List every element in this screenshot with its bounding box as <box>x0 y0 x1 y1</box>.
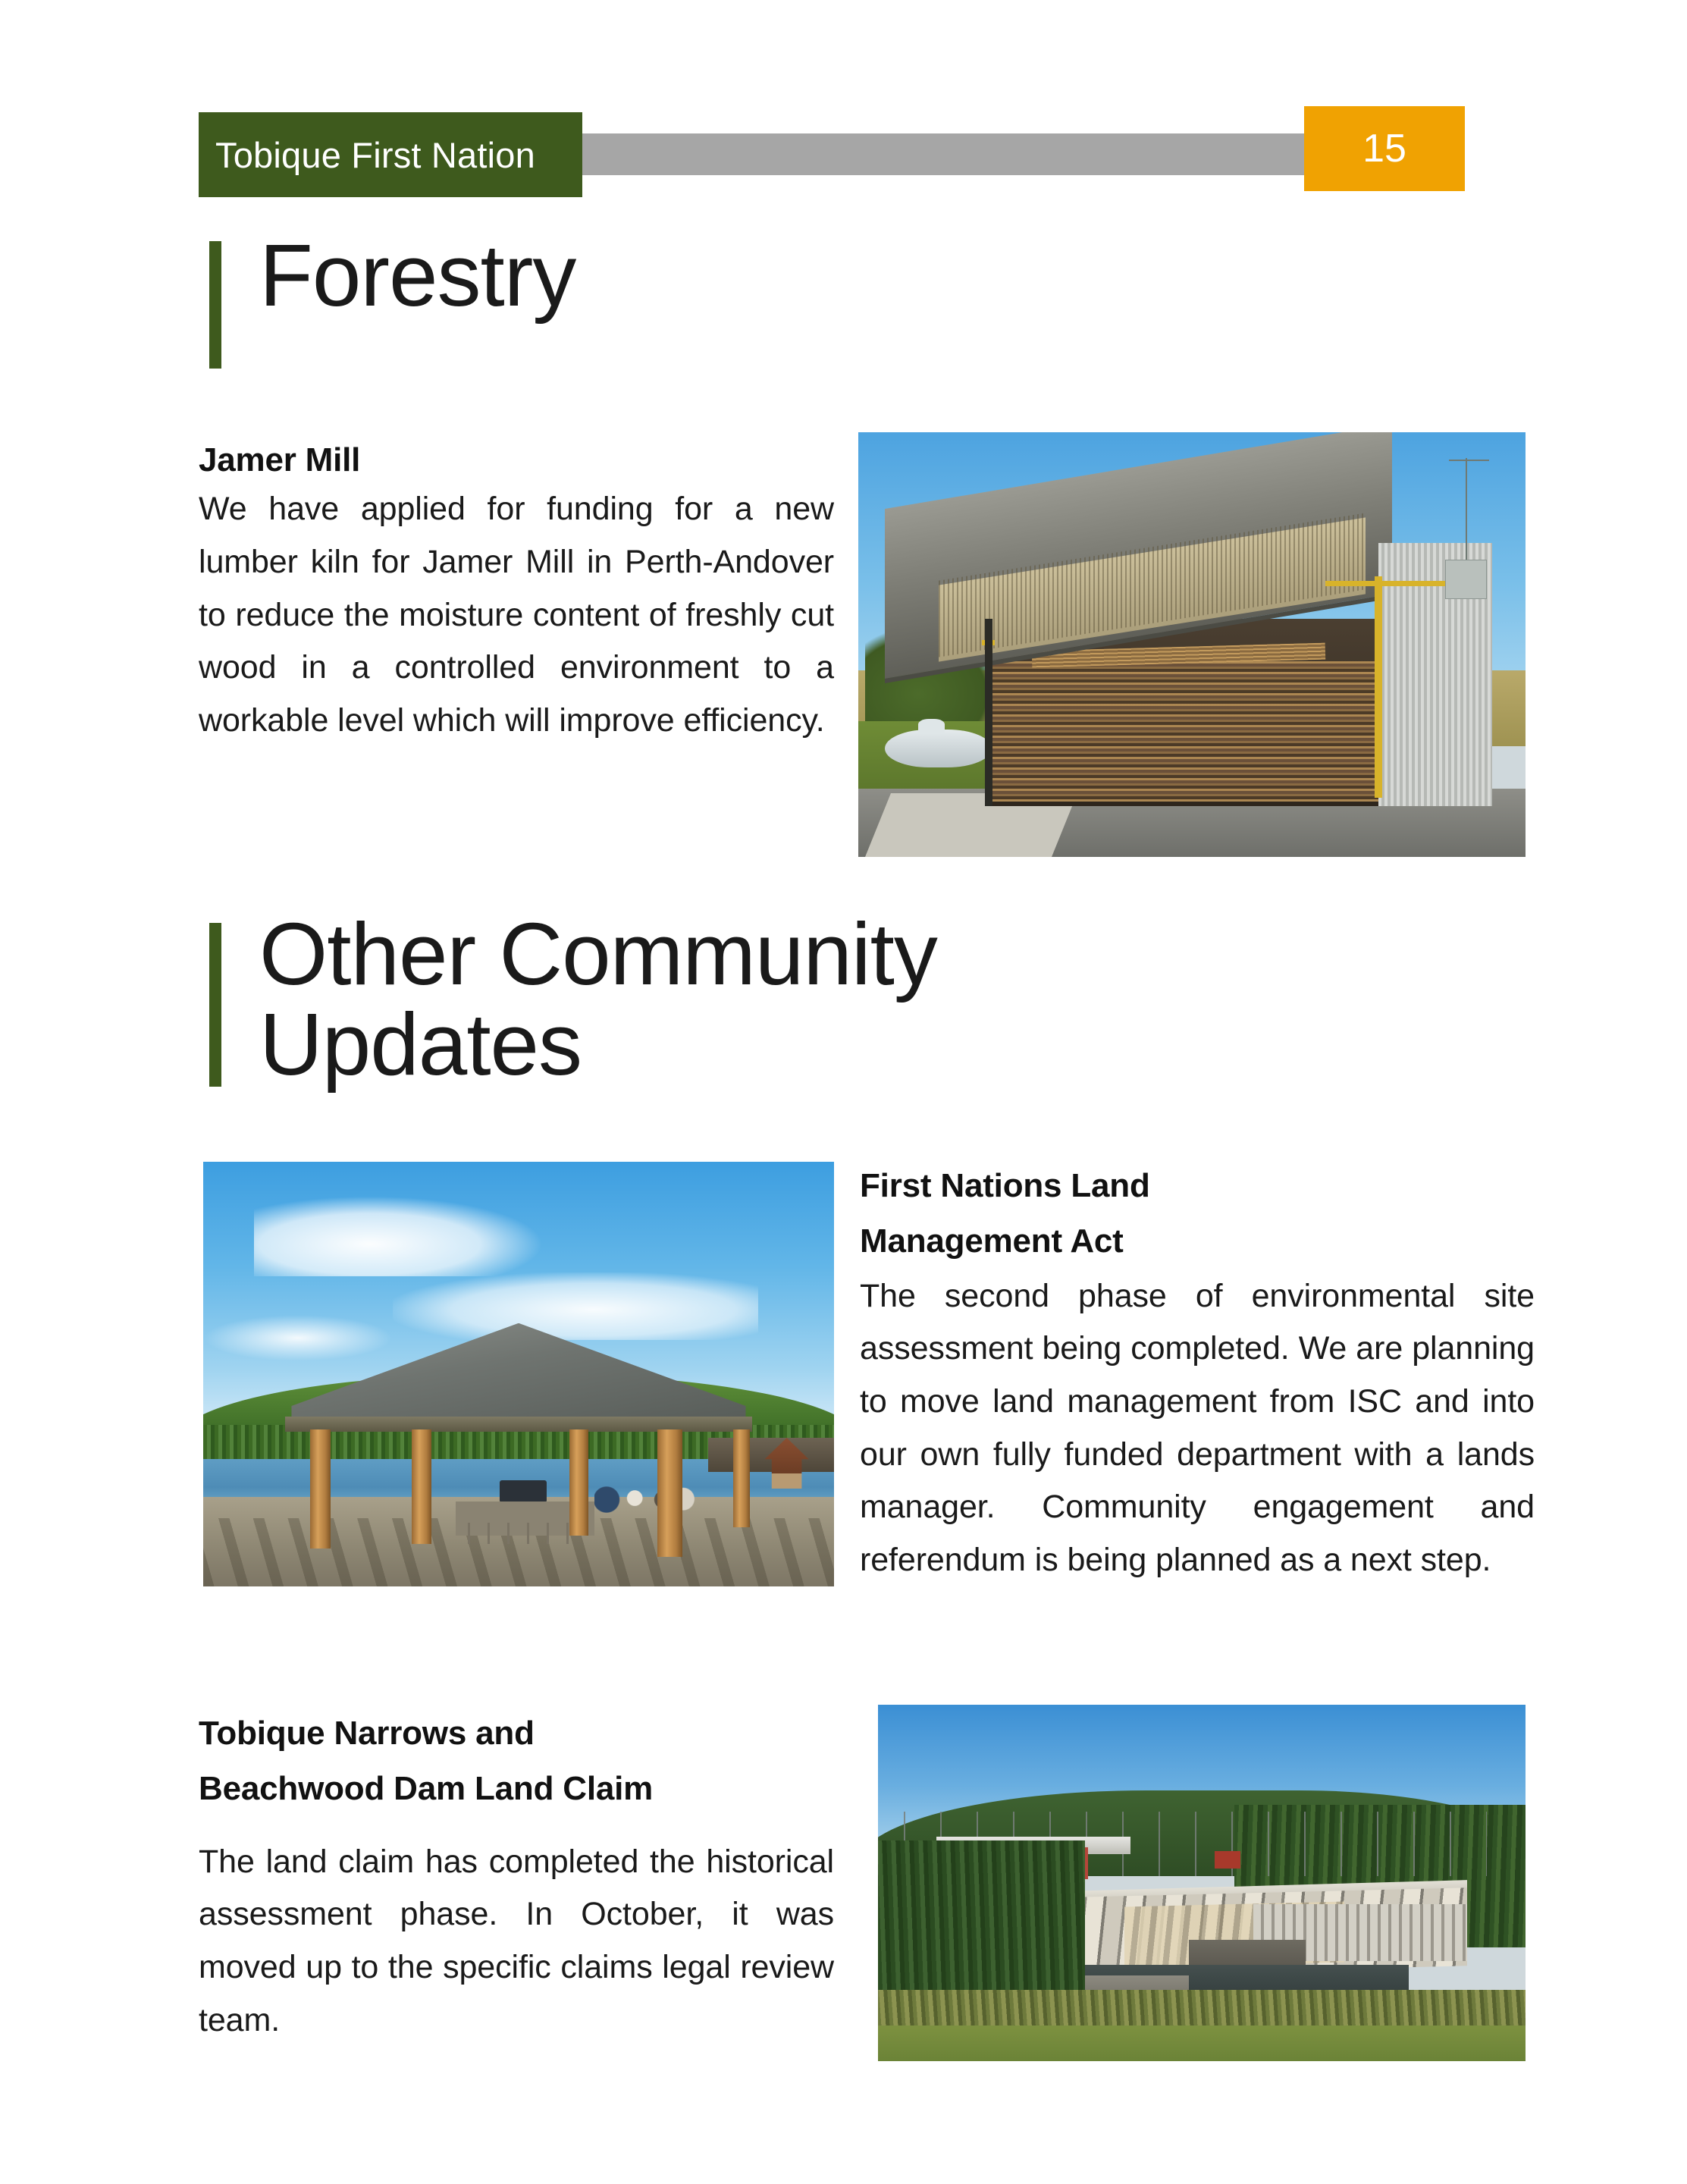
article-body: The second phase of environmental site a… <box>860 1270 1535 1587</box>
section-title-forestry: Forestry <box>209 241 575 369</box>
lakeside-pavilion-photo <box>203 1162 834 1586</box>
newsletter-page: Tobique First Nation 15 Forestry Jamer M… <box>0 0 1687 2184</box>
section-title-text: Other Community Updates <box>259 909 1245 1090</box>
article-body: The land claim has completed the histori… <box>199 1836 834 2047</box>
foreground-grass <box>878 2026 1526 2061</box>
pavilion-log-post <box>569 1429 588 1536</box>
forest-left <box>878 1840 1085 2012</box>
cloud <box>393 1272 759 1341</box>
article-jamer-mill: Jamer Mill We have applied for funding f… <box>199 438 834 747</box>
page-header: Tobique First Nation 15 <box>0 0 1687 227</box>
page-number-badge: 15 <box>1304 106 1465 191</box>
article-heading-line2: Management Act <box>860 1214 1535 1268</box>
pavilion-log-post <box>412 1429 432 1544</box>
article-heading-line1: Tobique Narrows and <box>199 1706 834 1760</box>
antenna-crossbar <box>1449 460 1489 461</box>
pavilion-log-post <box>310 1429 331 1549</box>
article-heading: Jamer Mill <box>199 438 834 482</box>
page-number: 15 <box>1362 129 1406 168</box>
parked-vehicle <box>500 1480 547 1501</box>
article-body: We have applied for funding for a new lu… <box>199 483 834 747</box>
article-heading-line2: Beachwood Dam Land Claim <box>199 1762 834 1815</box>
pavilion-log-post <box>657 1429 682 1557</box>
red-crane <box>1215 1851 1240 1869</box>
section-title-other-community-updates: Other Community Updates <box>209 923 1245 1090</box>
article-tobique-narrows-beachwood-dam-land-claim: Tobique Narrows and Beachwood Dam Land C… <box>199 1706 834 2047</box>
stacked-lumber <box>992 661 1412 802</box>
door-frame <box>985 619 992 805</box>
propane-tank <box>885 730 992 767</box>
propane-tank-cap <box>918 719 945 733</box>
section-accent-bar <box>209 241 221 369</box>
yellow-rail-vertical <box>1375 576 1382 797</box>
control-panel <box>1445 560 1487 599</box>
article-heading-line1: First Nations Land <box>860 1159 1535 1213</box>
header-organization-banner: Tobique First Nation <box>199 112 582 197</box>
hydroelectric-dam-photo <box>878 1705 1526 2061</box>
pavilion-log-post <box>733 1429 750 1527</box>
cloud <box>254 1196 544 1276</box>
picnic-table-legs <box>468 1523 582 1544</box>
antenna <box>1466 458 1467 560</box>
cloud <box>203 1315 393 1362</box>
section-accent-bar <box>209 923 221 1087</box>
lumber-kiln-photo <box>858 432 1526 857</box>
organization-name: Tobique First Nation <box>215 137 535 173</box>
article-first-nations-land-management-act: First Nations Land Management Act The se… <box>860 1159 1535 1586</box>
section-title-text: Forestry <box>259 231 575 369</box>
